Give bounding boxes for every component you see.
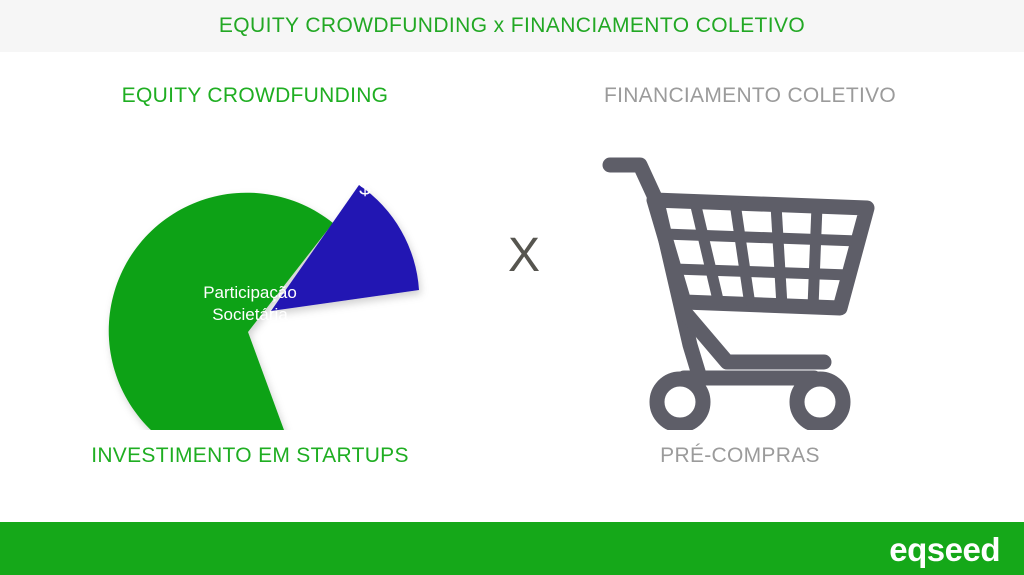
cart-wheel-left — [657, 379, 703, 425]
header-band: EQUITY CROWDFUNDING x FINANCIAMENTO COLE… — [0, 0, 1024, 52]
page-title: EQUITY CROWDFUNDING x FINANCIAMENTO COLE… — [219, 14, 805, 38]
shopping-cart — [592, 130, 902, 430]
versus-separator: X — [478, 232, 570, 280]
pie-chart-icon — [95, 130, 435, 430]
left-column-caption: INVESTIMENTO EM STARTUPS — [0, 444, 500, 468]
left-column-heading: EQUITY CROWDFUNDING — [0, 84, 510, 108]
right-column-caption: PRÉ-COMPRAS — [500, 444, 980, 468]
pie-slice-participacao — [109, 193, 333, 430]
shopping-cart-icon — [592, 130, 902, 430]
content-area: EQUITY CROWDFUNDING FINANCIAMENTO COLETI… — [0, 52, 1024, 522]
eqseed-logo: eqseed — [889, 533, 1000, 566]
footer-band: eqseed — [0, 522, 1024, 575]
dollar-sign-label: $ — [347, 178, 383, 199]
infographic-slide: EQUITY CROWDFUNDING x FINANCIAMENTO COLE… — [0, 0, 1024, 575]
right-column-heading: FINANCIAMENTO COLETIVO — [500, 84, 1000, 108]
pie-chart: Participação Societária $ — [95, 130, 435, 430]
cart-wheel-right — [797, 379, 843, 425]
